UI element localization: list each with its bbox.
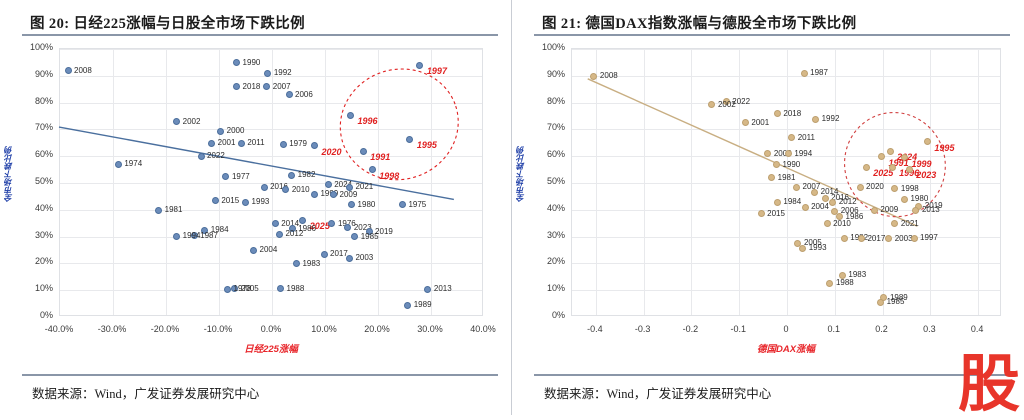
scatter-point-label: 1998 bbox=[901, 184, 919, 193]
scatter-point[interactable] bbox=[65, 67, 72, 74]
scatter-point-label: 2013 bbox=[922, 205, 940, 214]
scatter-point[interactable] bbox=[173, 233, 180, 240]
scatter-point-label: 1992 bbox=[274, 68, 292, 77]
scatter-point-label: 2017 bbox=[867, 234, 885, 243]
scatter-point-label: 2008 bbox=[74, 66, 92, 75]
figure-21-source: 数据来源：Wind，广发证券发展研究中心 bbox=[544, 383, 771, 402]
scatter-point-label: 2009 bbox=[340, 190, 358, 199]
trendline bbox=[588, 79, 918, 226]
scatter-point-label: 1994 bbox=[794, 149, 812, 158]
scatter-point[interactable] bbox=[360, 148, 367, 155]
figure-20-chart: 0%10%20%30%40%50%60%70%80%90%100%-40.0%-… bbox=[0, 0, 512, 370]
figure-20-footer-rule bbox=[22, 374, 498, 376]
scatter-point-label: 1984 bbox=[783, 197, 801, 206]
scatter-point-label: 2001 bbox=[218, 138, 236, 147]
scatter-point[interactable] bbox=[242, 199, 249, 206]
scatter-point[interactable] bbox=[871, 207, 878, 214]
scatter-point[interactable] bbox=[812, 116, 819, 123]
scatter-point-label: 2011 bbox=[798, 133, 815, 142]
scatter-point[interactable] bbox=[272, 220, 279, 227]
chart-overlay bbox=[0, 0, 512, 370]
scatter-point-label: 1987 bbox=[200, 231, 218, 240]
scatter-point-label: 1993 bbox=[252, 197, 270, 206]
scatter-point[interactable] bbox=[299, 217, 306, 224]
scatter-point-label: 2004 bbox=[811, 202, 829, 211]
scatter-point-label-highlight: 2023 bbox=[916, 170, 936, 180]
scatter-point-label: 1980 bbox=[358, 200, 376, 209]
scatter-point-label: 2003 bbox=[895, 234, 913, 243]
scatter-point[interactable] bbox=[250, 247, 257, 254]
scatter-point-label: 1997 bbox=[920, 233, 938, 242]
scatter-point-label: 2018 bbox=[243, 82, 261, 91]
scatter-point-label: 1974 bbox=[124, 159, 142, 168]
scatter-point[interactable] bbox=[822, 195, 829, 202]
scatter-point[interactable] bbox=[261, 184, 268, 191]
scatter-point-label: 1987 bbox=[810, 68, 828, 77]
scatter-point[interactable] bbox=[406, 136, 413, 143]
scatter-point[interactable] bbox=[911, 235, 918, 242]
scatter-point-label: 2021 bbox=[355, 182, 373, 191]
scatter-point-label: 1977 bbox=[232, 172, 250, 181]
scatter-point[interactable] bbox=[280, 141, 287, 148]
scatter-point-label: 2013 bbox=[434, 284, 452, 293]
scatter-point-label: 2003 bbox=[355, 253, 373, 262]
scatter-point-label: 2001 bbox=[751, 118, 769, 127]
scatter-point-label: 1993 bbox=[809, 243, 827, 252]
scatter-point-label: 2008 bbox=[600, 71, 618, 80]
scatter-point-label: 1988 bbox=[287, 284, 305, 293]
scatter-point[interactable] bbox=[802, 204, 809, 211]
scatter-point[interactable] bbox=[793, 184, 800, 191]
scatter-point[interactable] bbox=[863, 164, 870, 171]
figure-panel-20: 图 20:日经225涨幅与日股全市场下跌比例 0%10%20%30%40%50%… bbox=[0, 0, 512, 415]
scatter-point-label-highlight: 2020 bbox=[321, 147, 341, 157]
scatter-point-label-highlight: 1991 bbox=[370, 152, 390, 162]
chart-overlay bbox=[512, 0, 1024, 370]
scatter-point-label: 2004 bbox=[260, 245, 278, 254]
scatter-point[interactable] bbox=[155, 207, 162, 214]
figure-panel-21: 图 21:德国DAX指数涨幅与德股全市场下跌比例 0%10%20%30%40%5… bbox=[512, 0, 1024, 415]
scatter-point[interactable] bbox=[773, 161, 780, 168]
scatter-point-label: 2022 bbox=[207, 151, 225, 160]
scatter-point[interactable] bbox=[276, 231, 283, 238]
scatter-point-label: 2020 bbox=[866, 182, 884, 191]
scatter-point-label: 1988 bbox=[836, 278, 854, 287]
watermark-logo: 股 bbox=[958, 355, 1018, 413]
scatter-point-label: 2009 bbox=[880, 205, 898, 214]
scatter-point-label: 2000 bbox=[227, 126, 245, 135]
figure-21-chart: 0%10%20%30%40%50%60%70%80%90%100%-0.4-0.… bbox=[512, 0, 1024, 370]
scatter-point-label: 2007 bbox=[273, 82, 291, 91]
scatter-point[interactable] bbox=[224, 286, 231, 293]
scatter-point[interactable] bbox=[742, 119, 749, 126]
scatter-point[interactable] bbox=[208, 140, 215, 147]
scatter-point-label: 2006 bbox=[295, 90, 313, 99]
scatter-point-label: 2010 bbox=[292, 185, 310, 194]
scatter-point[interactable] bbox=[238, 140, 245, 147]
scatter-point-label-highlight: 1995 bbox=[417, 140, 437, 150]
scatter-point-label: 1985 bbox=[361, 232, 379, 241]
scatter-point-label: 1981 bbox=[778, 173, 796, 182]
scatter-point-label: 2010 bbox=[833, 219, 851, 228]
scatter-point-label: 1990 bbox=[243, 58, 261, 67]
scatter-point[interactable] bbox=[811, 189, 818, 196]
scatter-point[interactable] bbox=[906, 166, 913, 173]
scatter-point[interactable] bbox=[801, 70, 808, 77]
scatter-point-label: 1979 bbox=[289, 139, 307, 148]
scatter-point[interactable] bbox=[198, 153, 205, 160]
scatter-point-label: 1992 bbox=[822, 114, 840, 123]
scatter-point-label-highlight: 1997 bbox=[427, 66, 447, 76]
scatter-point[interactable] bbox=[347, 112, 354, 119]
scatter-point-label: 2015 bbox=[221, 196, 239, 205]
scatter-point[interactable] bbox=[758, 210, 765, 217]
scatter-point[interactable] bbox=[877, 299, 884, 306]
scatter-point[interactable] bbox=[321, 251, 328, 258]
scatter-point[interactable] bbox=[857, 184, 864, 191]
scatter-point[interactable] bbox=[774, 110, 781, 117]
scatter-point-label: 2021 bbox=[901, 219, 919, 228]
annotation-ellipse bbox=[326, 54, 473, 195]
figure-20-source: 数据来源：Wind，广发证券发展研究中心 bbox=[32, 383, 259, 402]
scatter-point-label: 1985 bbox=[887, 297, 905, 306]
scatter-point[interactable] bbox=[889, 164, 896, 171]
scatter-point-label: 1989 bbox=[414, 300, 432, 309]
scatter-point-label: 1982 bbox=[298, 170, 316, 179]
scatter-point-label: 2011 bbox=[247, 138, 264, 147]
scatter-point[interactable] bbox=[217, 128, 224, 135]
scatter-point-label: 2018 bbox=[783, 109, 801, 118]
scatter-point-label: 1983 bbox=[302, 259, 320, 268]
scatter-point[interactable] bbox=[887, 148, 894, 155]
scatter-point-label: 1981 bbox=[165, 205, 183, 214]
scatter-point[interactable] bbox=[404, 302, 411, 309]
scatter-point[interactable] bbox=[829, 199, 836, 206]
scatter-point-label: 1990 bbox=[782, 160, 800, 169]
scatter-point-label: 1994 bbox=[183, 231, 201, 240]
scatter-point-label: 1978 bbox=[234, 284, 252, 293]
scatter-point-label: 2002 bbox=[718, 100, 736, 109]
scatter-point-label: 2002 bbox=[183, 117, 201, 126]
scatter-point-label-highlight: 1998 bbox=[379, 171, 399, 181]
scatter-point-label: 2012 bbox=[839, 197, 857, 206]
scatter-point[interactable] bbox=[346, 255, 353, 262]
figure-21-footer-rule bbox=[534, 374, 1010, 376]
scatter-point-label-highlight: 1995 bbox=[934, 143, 954, 153]
scatter-point[interactable] bbox=[311, 191, 318, 198]
figures-page: 图 20:日经225涨幅与日股全市场下跌比例 0%10%20%30%40%50%… bbox=[0, 0, 1024, 415]
scatter-point[interactable] bbox=[841, 235, 848, 242]
scatter-point[interactable] bbox=[325, 181, 332, 188]
scatter-point[interactable] bbox=[824, 220, 831, 227]
scatter-point[interactable] bbox=[115, 161, 122, 168]
scatter-point-label: 1975 bbox=[408, 200, 426, 209]
scatter-point-label-highlight: 1996 bbox=[358, 116, 378, 126]
scatter-point[interactable] bbox=[901, 196, 908, 203]
scatter-point-label: 2012 bbox=[285, 229, 303, 238]
scatter-point[interactable] bbox=[774, 199, 781, 206]
scatter-point[interactable] bbox=[286, 91, 293, 98]
scatter-point[interactable] bbox=[288, 172, 295, 179]
scatter-point-label: 2015 bbox=[767, 209, 785, 218]
